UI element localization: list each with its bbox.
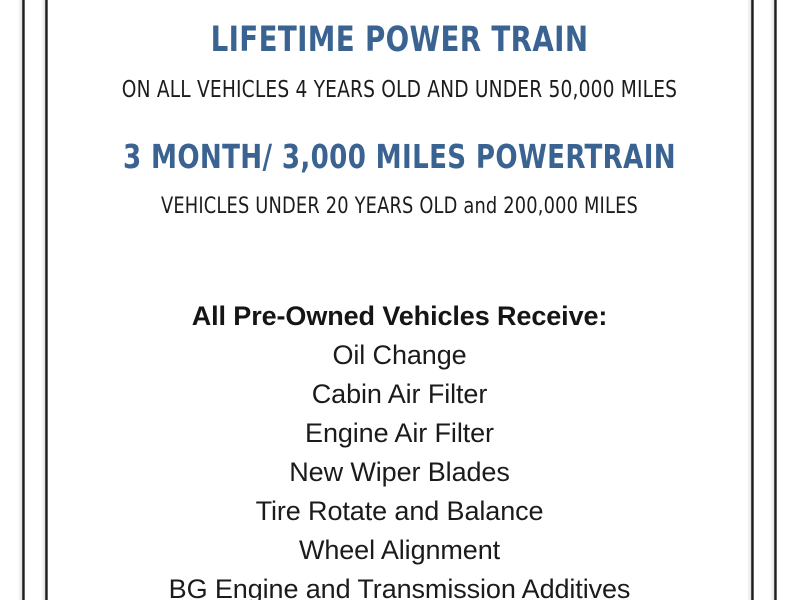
- list-item: Tire Rotate and Balance: [48, 492, 751, 531]
- warranty-block-3month: 3 MONTH/ 3,000 MILES POWERTRAIN VEHICLES…: [48, 137, 751, 221]
- list-item: Oil Change: [48, 336, 751, 375]
- list-item: Engine Air Filter: [48, 414, 751, 453]
- services-section: All Pre-Owned Vehicles Receive: Oil Chan…: [48, 297, 751, 600]
- flyer-page: LIFETIME POWER TRAIN ON ALL VEHICLES 4 Y…: [0, 0, 800, 600]
- list-item: Wheel Alignment: [48, 531, 751, 570]
- warranty-block-lifetime: LIFETIME POWER TRAIN ON ALL VEHICLES 4 Y…: [48, 20, 751, 104]
- list-item: Cabin Air Filter: [48, 375, 751, 414]
- warranty-subline: ON ALL VEHICLES 4 YEARS OLD AND UNDER 50…: [83, 76, 716, 104]
- page-edge-rule-inner-right: [751, 0, 754, 600]
- list-item: New Wiper Blades: [48, 453, 751, 492]
- warranty-headline: 3 MONTH/ 3,000 MILES POWERTRAIN: [90, 137, 709, 177]
- page-edge-rule-outer-left: [22, 0, 25, 600]
- warranty-headline: LIFETIME POWER TRAIN: [90, 20, 709, 60]
- list-item: BG Engine and Transmission Additives: [48, 570, 751, 600]
- services-section-title: All Pre-Owned Vehicles Receive:: [48, 297, 751, 336]
- flyer-content: LIFETIME POWER TRAIN ON ALL VEHICLES 4 Y…: [48, 0, 751, 600]
- page-edge-rule-outer-right: [774, 0, 777, 600]
- warranty-subline: VEHICLES UNDER 20 YEARS OLD and 200,000 …: [83, 193, 716, 221]
